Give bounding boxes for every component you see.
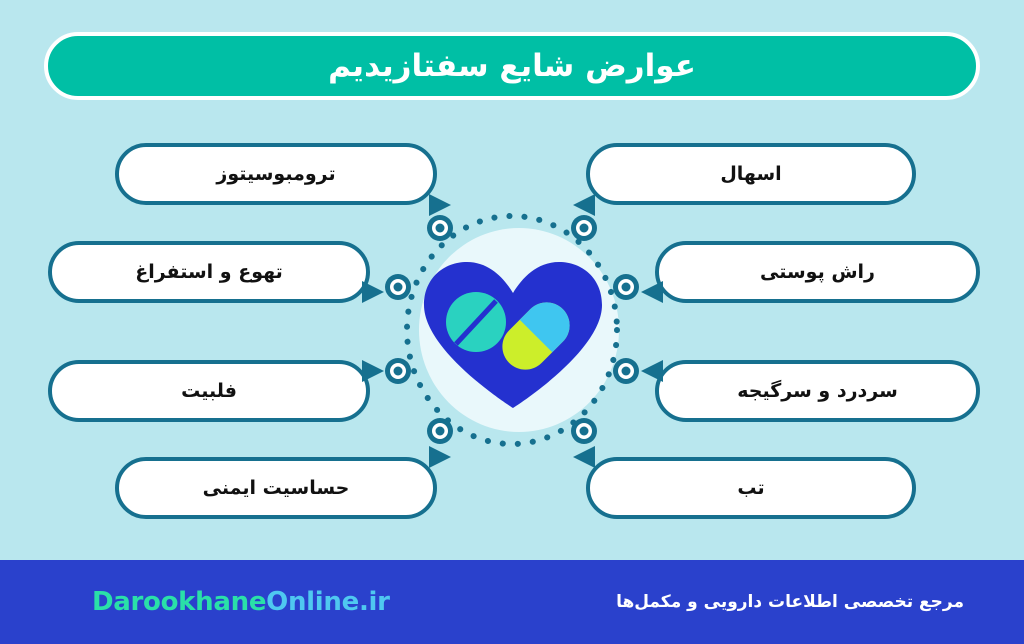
connector-node-right-4 xyxy=(571,418,597,444)
connector-node-right-3 xyxy=(613,358,639,384)
connector-node-left-3 xyxy=(385,358,411,384)
side-effect-card-left-1[interactable]: ترومبوسیتوز xyxy=(115,143,437,205)
page-title-banner: عوارض شایع سفتازیدیم xyxy=(44,32,980,100)
footer-tagline: مرجع تخصصی اطلاعات دارویی و مکمل‌ها xyxy=(616,592,964,612)
connector-node-left-2 xyxy=(385,274,411,300)
side-effect-card-right-4[interactable]: تب xyxy=(586,457,916,519)
side-effect-card-right-1[interactable]: اسهال xyxy=(586,143,916,205)
side-effect-label: تب xyxy=(737,477,764,499)
side-effect-card-left-3[interactable]: فلبیت xyxy=(48,360,370,422)
side-effect-label: سردرد و سرگیجه xyxy=(737,380,898,402)
side-effect-card-left-4[interactable]: حساسیت ایمنی xyxy=(115,457,437,519)
connector-node-right-1 xyxy=(571,215,597,241)
side-effect-card-right-2[interactable]: راش پوستی xyxy=(655,241,980,303)
footer-bar: مرجع تخصصی اطلاعات دارویی و مکمل‌ها Daro… xyxy=(0,560,1024,644)
heart-with-pills-icon xyxy=(418,260,608,408)
side-effect-label: راش پوستی xyxy=(760,261,875,283)
infographic-page: عوارض شایع سفتازیدیم ترومبوسیتوز تهوع و … xyxy=(0,0,1024,644)
side-effect-card-right-3[interactable]: سردرد و سرگیجه xyxy=(655,360,980,422)
side-effect-label: حساسیت ایمنی xyxy=(203,477,350,499)
connector-node-right-2 xyxy=(613,274,639,300)
side-effect-label: اسهال xyxy=(720,163,781,185)
logo-text-primary: Darookhane xyxy=(92,587,266,617)
logo-text-secondary: Online.ir xyxy=(266,587,390,617)
site-logo[interactable]: DarookhaneOnline.ir xyxy=(92,587,390,617)
center-graphic xyxy=(371,198,653,462)
side-effect-label: ترومبوسیتوز xyxy=(216,163,335,185)
side-effect-label: فلبیت xyxy=(181,380,237,402)
connector-node-left-1 xyxy=(427,215,453,241)
connector-node-left-4 xyxy=(427,418,453,444)
page-title: عوارض شایع سفتازیدیم xyxy=(328,48,696,84)
side-effect-label: تهوع و استفراغ xyxy=(135,261,283,283)
side-effect-card-left-2[interactable]: تهوع و استفراغ xyxy=(48,241,370,303)
